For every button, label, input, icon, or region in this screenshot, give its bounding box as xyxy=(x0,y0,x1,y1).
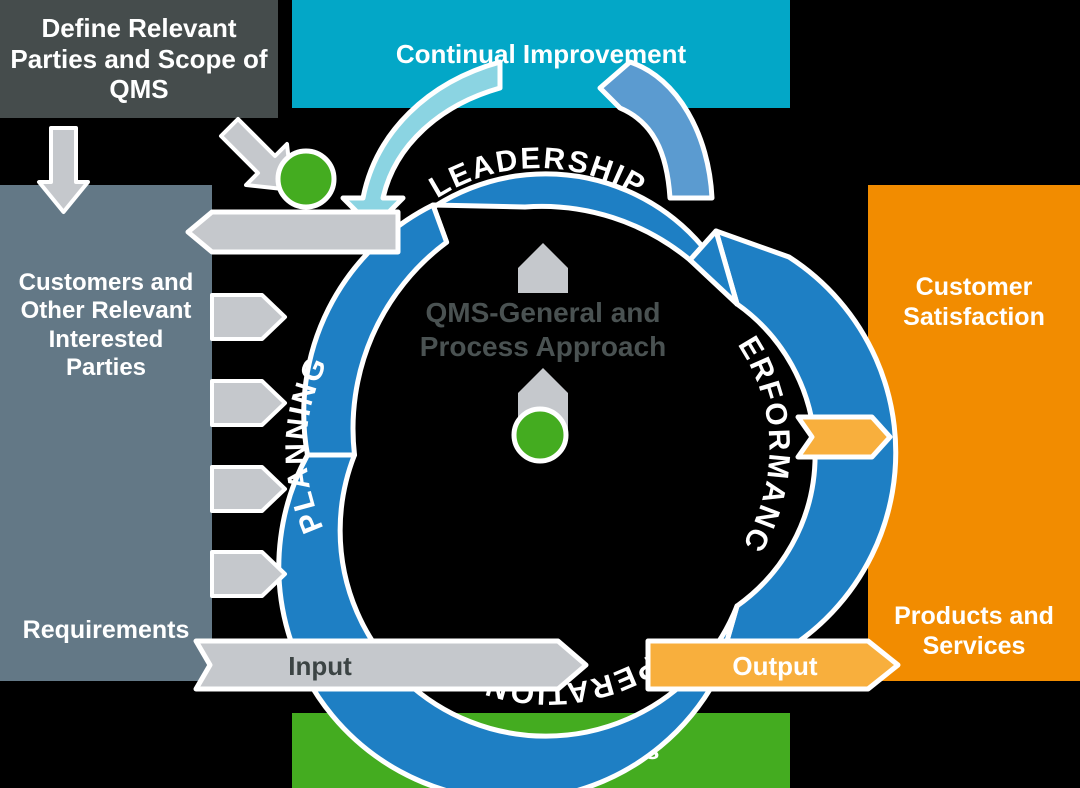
arrow-diagonal-icon-scope xyxy=(221,119,292,190)
output-label: Output xyxy=(732,651,818,681)
output-arrow-shape xyxy=(648,641,898,689)
products-and-services-label: Products and Services xyxy=(868,602,1080,661)
center-title-line2: Process Approach xyxy=(420,331,666,362)
interested-parties-panel: Customers and Other Relevant Interested … xyxy=(0,185,212,681)
define-scope-box: Define Relevant Parties and Scope of QMS xyxy=(0,0,278,118)
diagram-canvas: Define Relevant Parties and Scope of QMS… xyxy=(0,0,1080,788)
arrow-right-icon-4 xyxy=(212,552,285,596)
cycle-arrowhead-leadership xyxy=(690,231,737,304)
green-circle-icon-scope xyxy=(278,151,334,207)
customer-satisfaction-panel: Customer Satisfaction Products and Servi… xyxy=(868,185,1080,681)
arrow-right-icon-2 xyxy=(212,381,285,425)
support-processes-box: Support Processes xyxy=(292,713,790,788)
cycle-segment-leadership xyxy=(308,174,738,455)
arrow-left-icon-feedback xyxy=(188,212,398,252)
continual-improvement-label: Continual Improvement xyxy=(396,39,686,70)
cycle-label-operations: OPERATIONS xyxy=(457,634,686,711)
input-label: Input xyxy=(288,651,352,681)
support-processes-label: Support Processes xyxy=(423,735,660,766)
center-title-line1: QMS-General and xyxy=(426,297,661,328)
arrow-right-icon-1 xyxy=(212,295,285,339)
cycle-label-leadership: LEADERSHIP xyxy=(424,142,652,205)
cycle-label-planning: PLANNING xyxy=(280,351,334,538)
arrow-up-icon-lower xyxy=(518,368,568,432)
requirements-label: Requirements xyxy=(0,616,212,646)
cycle-segment-planning xyxy=(304,205,447,455)
continual-improvement-box: Continual Improvement xyxy=(292,0,790,108)
interested-parties-title: Customers and Other Relevant Interested … xyxy=(0,269,212,382)
customer-satisfaction-title: Customer Satisfaction xyxy=(868,273,1080,332)
arrow-right-icon-3 xyxy=(212,467,285,511)
input-arrow-shape xyxy=(196,641,586,689)
define-scope-label: Define Relevant Parties and Scope of QMS xyxy=(10,13,268,105)
arrow-up-icon-upper xyxy=(518,243,568,293)
green-circle-icon-center xyxy=(514,409,566,461)
